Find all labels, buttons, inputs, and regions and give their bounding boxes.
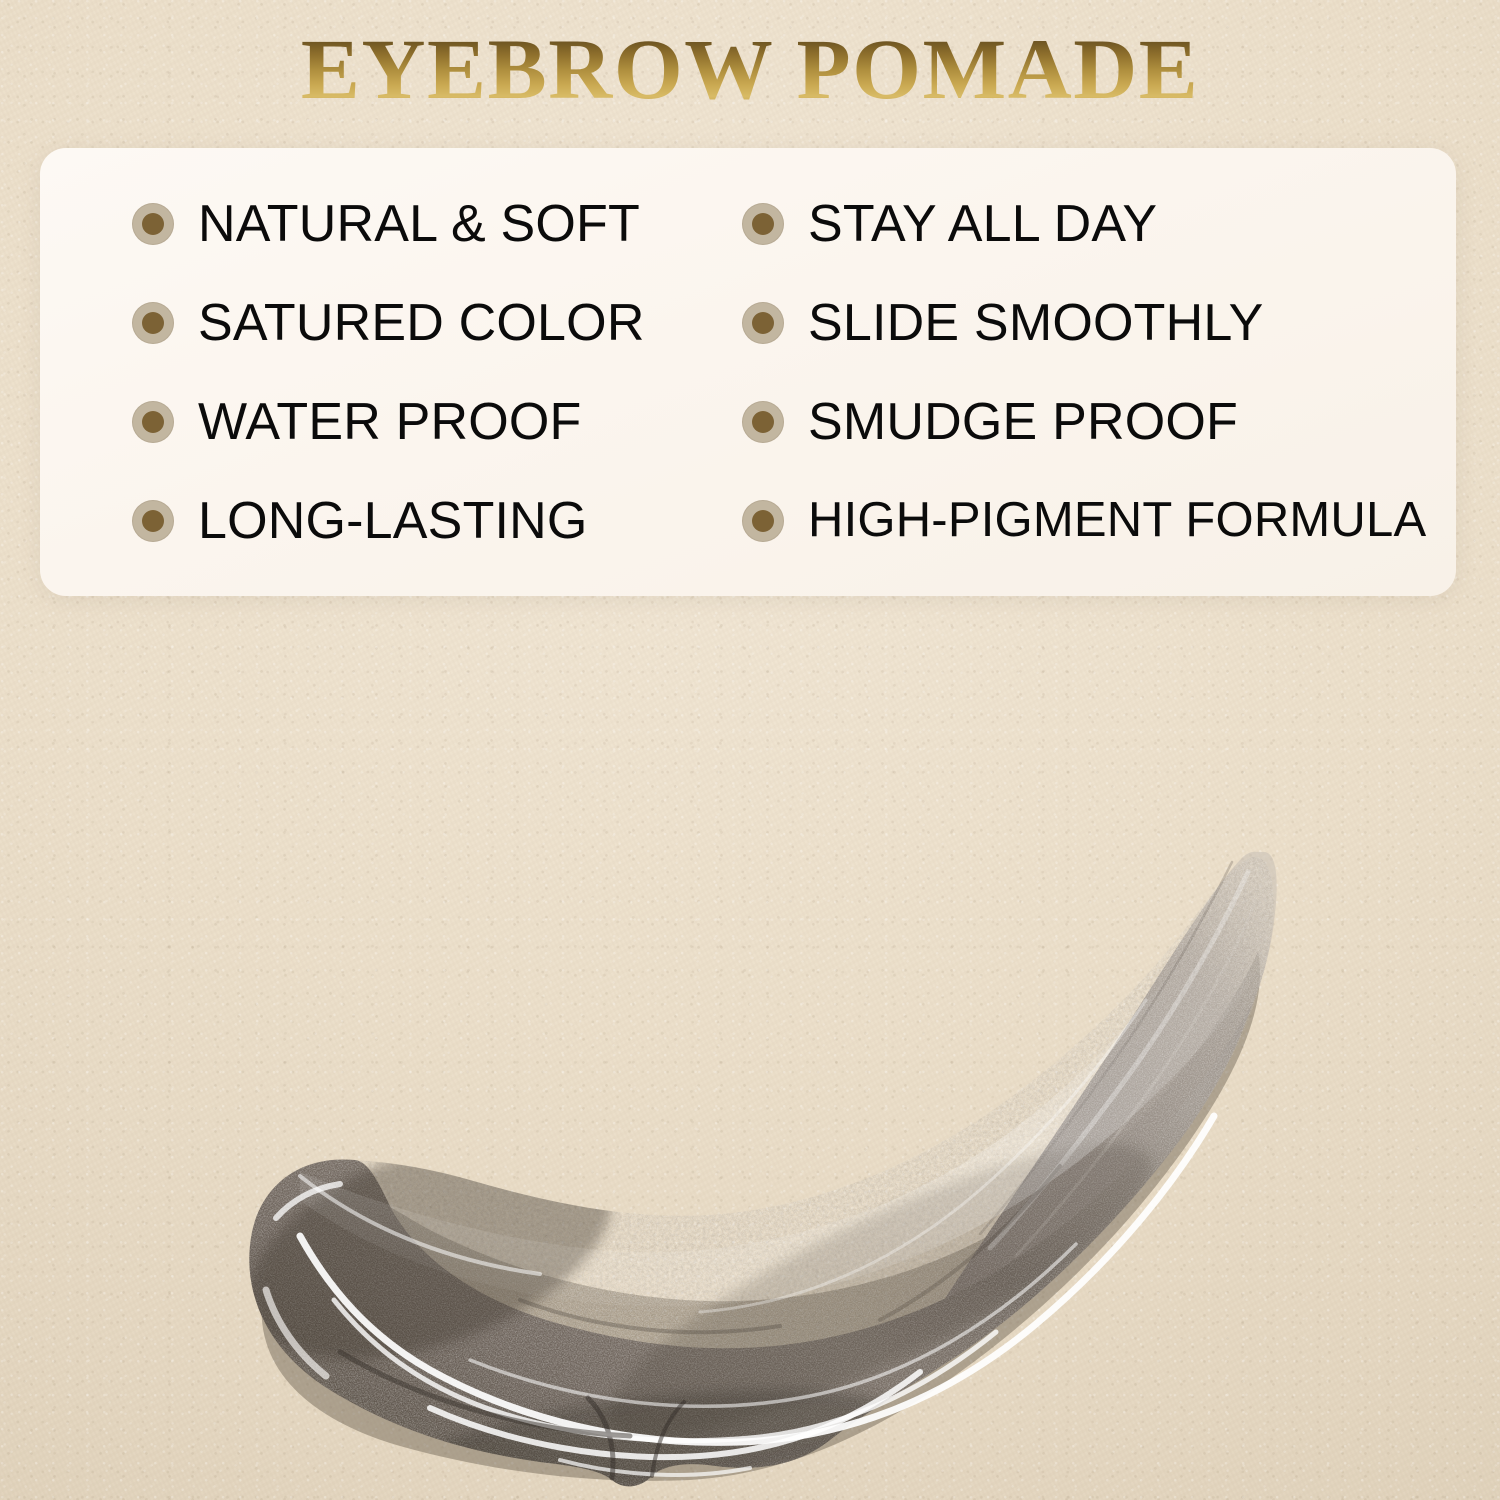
bullet-dot-icon — [742, 203, 784, 245]
feature-label: STAY ALL DAY — [808, 198, 1157, 250]
feature-item-natural-and-soft: NATURAL & SOFT — [132, 198, 742, 250]
feature-label: WATER PROOF — [198, 396, 582, 448]
swatch-body — [180, 800, 1380, 1500]
feature-label: NATURAL & SOFT — [198, 198, 640, 250]
feature-label: SATURED COLOR — [198, 297, 645, 349]
feature-label: LONG-LASTING — [198, 495, 588, 547]
bullet-dot-icon — [132, 401, 174, 443]
bullet-dot-icon — [742, 302, 784, 344]
product-feature-page: EYEBROW POMADE NATURAL & SOFT SATURED CO… — [0, 0, 1500, 1500]
feature-item-smudge-proof: SMUDGE PROOF — [742, 396, 1456, 448]
feature-label: SLIDE SMOOTHLY — [808, 297, 1264, 349]
feature-item-water-proof: WATER PROOF — [132, 396, 742, 448]
bullet-dot-icon — [742, 401, 784, 443]
feature-label: SMUDGE PROOF — [808, 396, 1238, 448]
product-swatch — [0, 600, 1500, 1500]
feature-item-stay-all-day: STAY ALL DAY — [742, 198, 1456, 250]
feature-item-slide-smoothly: SLIDE SMOOTHLY — [742, 297, 1456, 349]
feature-item-satured-color: SATURED COLOR — [132, 297, 742, 349]
bullet-dot-icon — [132, 302, 174, 344]
bullet-dot-icon — [132, 203, 174, 245]
feature-item-long-lasting: LONG-LASTING — [132, 495, 742, 547]
bullet-dot-icon — [132, 500, 174, 542]
bullet-dot-icon — [742, 500, 784, 542]
feature-label: HIGH-PIGMENT FORMULA — [808, 496, 1426, 545]
page-title: EYEBROW POMADE — [0, 26, 1500, 112]
pomade-smear-illustration — [0, 600, 1500, 1500]
feature-list-card: NATURAL & SOFT SATURED COLOR WATER PROOF… — [40, 148, 1456, 596]
page-title-text: EYEBROW POMADE — [301, 26, 1199, 112]
feature-item-high-pigment-formula: HIGH-PIGMENT FORMULA — [742, 496, 1456, 545]
